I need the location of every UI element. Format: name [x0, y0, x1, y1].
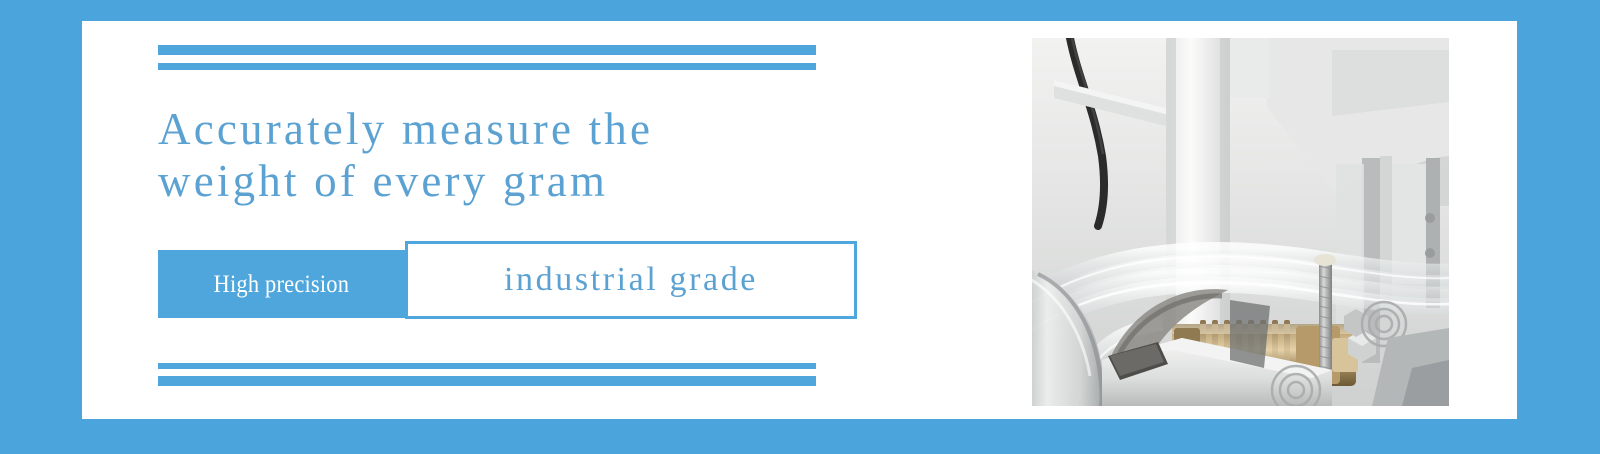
industrial-load-cell-photo: [1032, 38, 1449, 406]
photo-illustration: [1032, 38, 1449, 406]
tag-industrial-grade[interactable]: industrial grade: [405, 241, 857, 319]
decorative-rule-bottom-thin: [158, 363, 816, 369]
promo-banner: Accurately measure the weight of every g…: [0, 0, 1600, 454]
banner-card: Accurately measure the weight of every g…: [82, 21, 1517, 419]
banner-left-column: Accurately measure the weight of every g…: [158, 21, 958, 419]
tag-high-precision-label: High precision: [214, 272, 350, 297]
decorative-rule-bottom-thick: [158, 376, 816, 386]
decorative-rule-top-thin: [158, 63, 816, 70]
tag-industrial-grade-label: industrial grade: [504, 263, 758, 297]
tag-high-precision[interactable]: High precision: [158, 250, 405, 318]
decorative-rule-top-thick: [158, 45, 816, 55]
banner-headline: Accurately measure the weight of every g…: [158, 103, 878, 207]
